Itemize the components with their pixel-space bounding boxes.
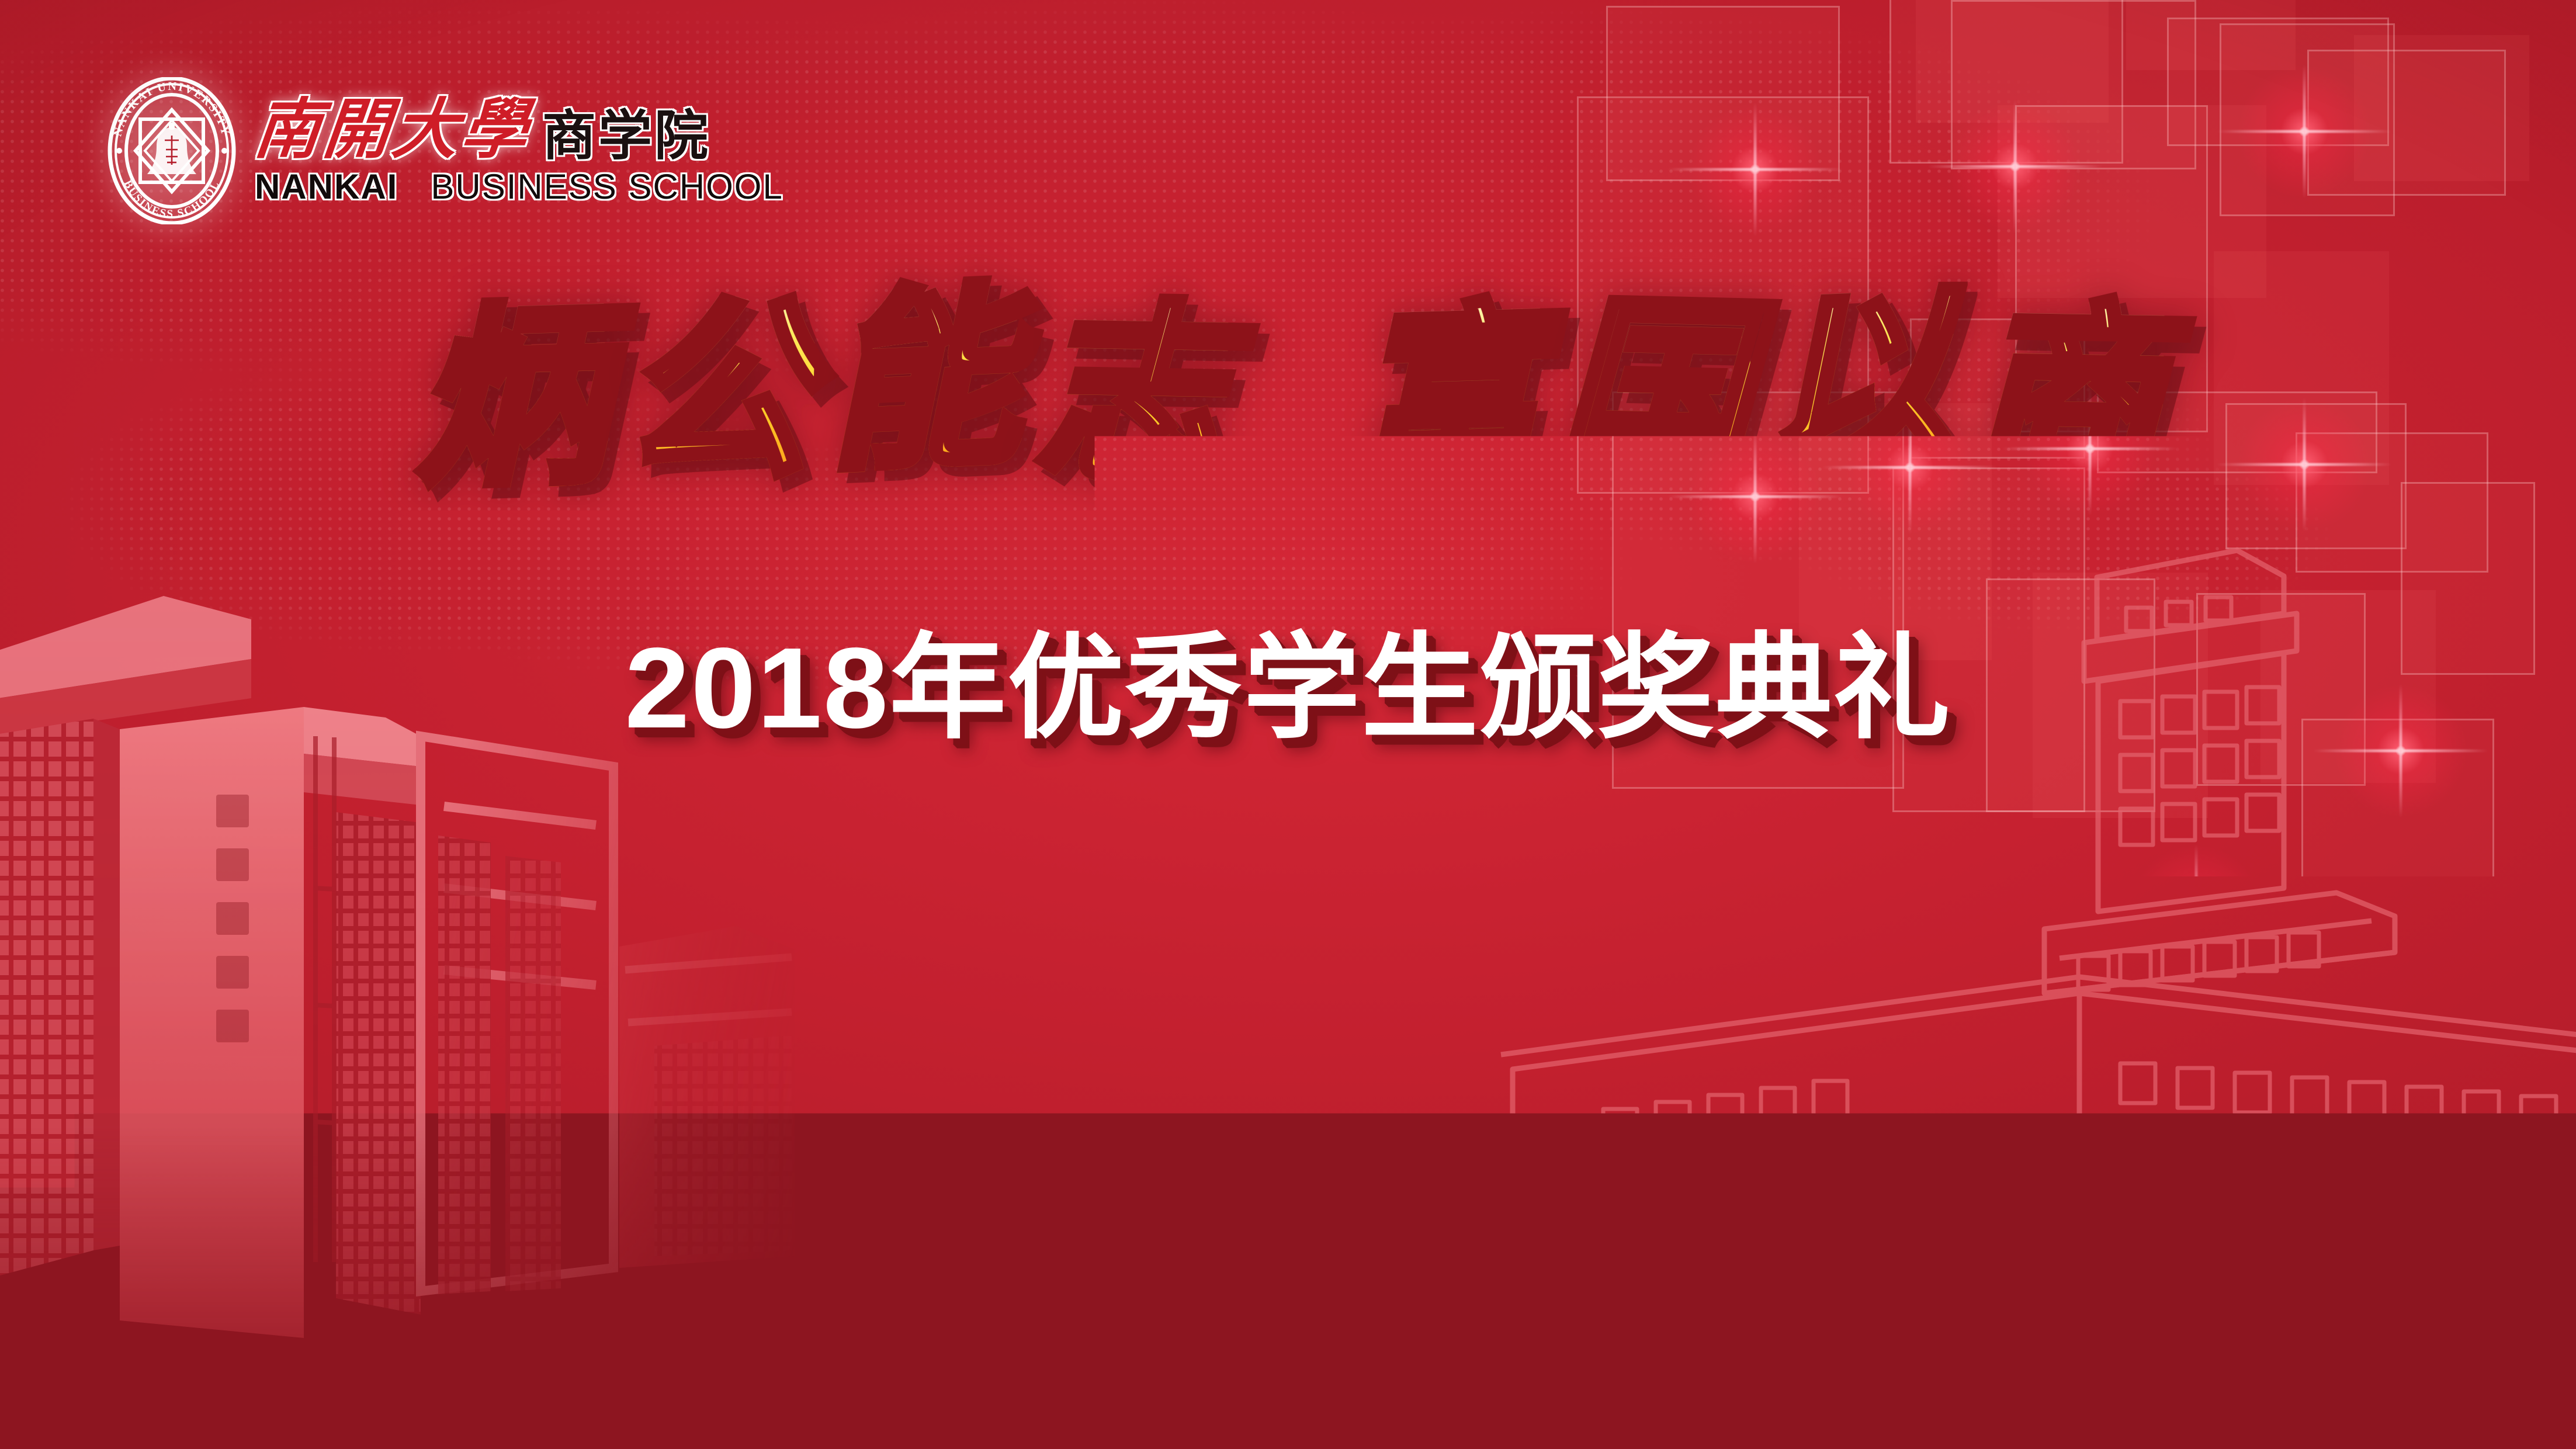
nankai-business-school-emblem: NANKAI UNIVERSITY BUSINESS SCHOOL	[104, 77, 240, 224]
footer-block: 南开大学商学院 2018年12月	[0, 1081, 2576, 1273]
event-subtitle: 2018年优秀学生颁奖典礼	[0, 626, 2576, 750]
poster-canvas: NANKAI UNIVERSITY BUSINESS SCHOOL	[0, 0, 2576, 1449]
logo-wordmark: 南開大學 商学院 NANKAI BUSINESS SCHOOL	[255, 95, 783, 207]
event-date: 2018年12月	[0, 1181, 2576, 1273]
organizer-name: 南开大学商学院	[0, 1081, 2576, 1172]
logo-school-cn: 商学院	[542, 109, 710, 163]
logo-name-en-school: BUSINESS SCHOOL	[431, 167, 783, 206]
logo-university-cn: 南開大學	[251, 98, 534, 163]
logo-name-en: NANKAI BUSINESS SCHOOL	[255, 167, 783, 207]
logo-name-en-nankai: NANKAI	[255, 167, 398, 206]
nankai-business-school-logo: NANKAI UNIVERSITY BUSINESS SCHOOL	[104, 77, 783, 224]
